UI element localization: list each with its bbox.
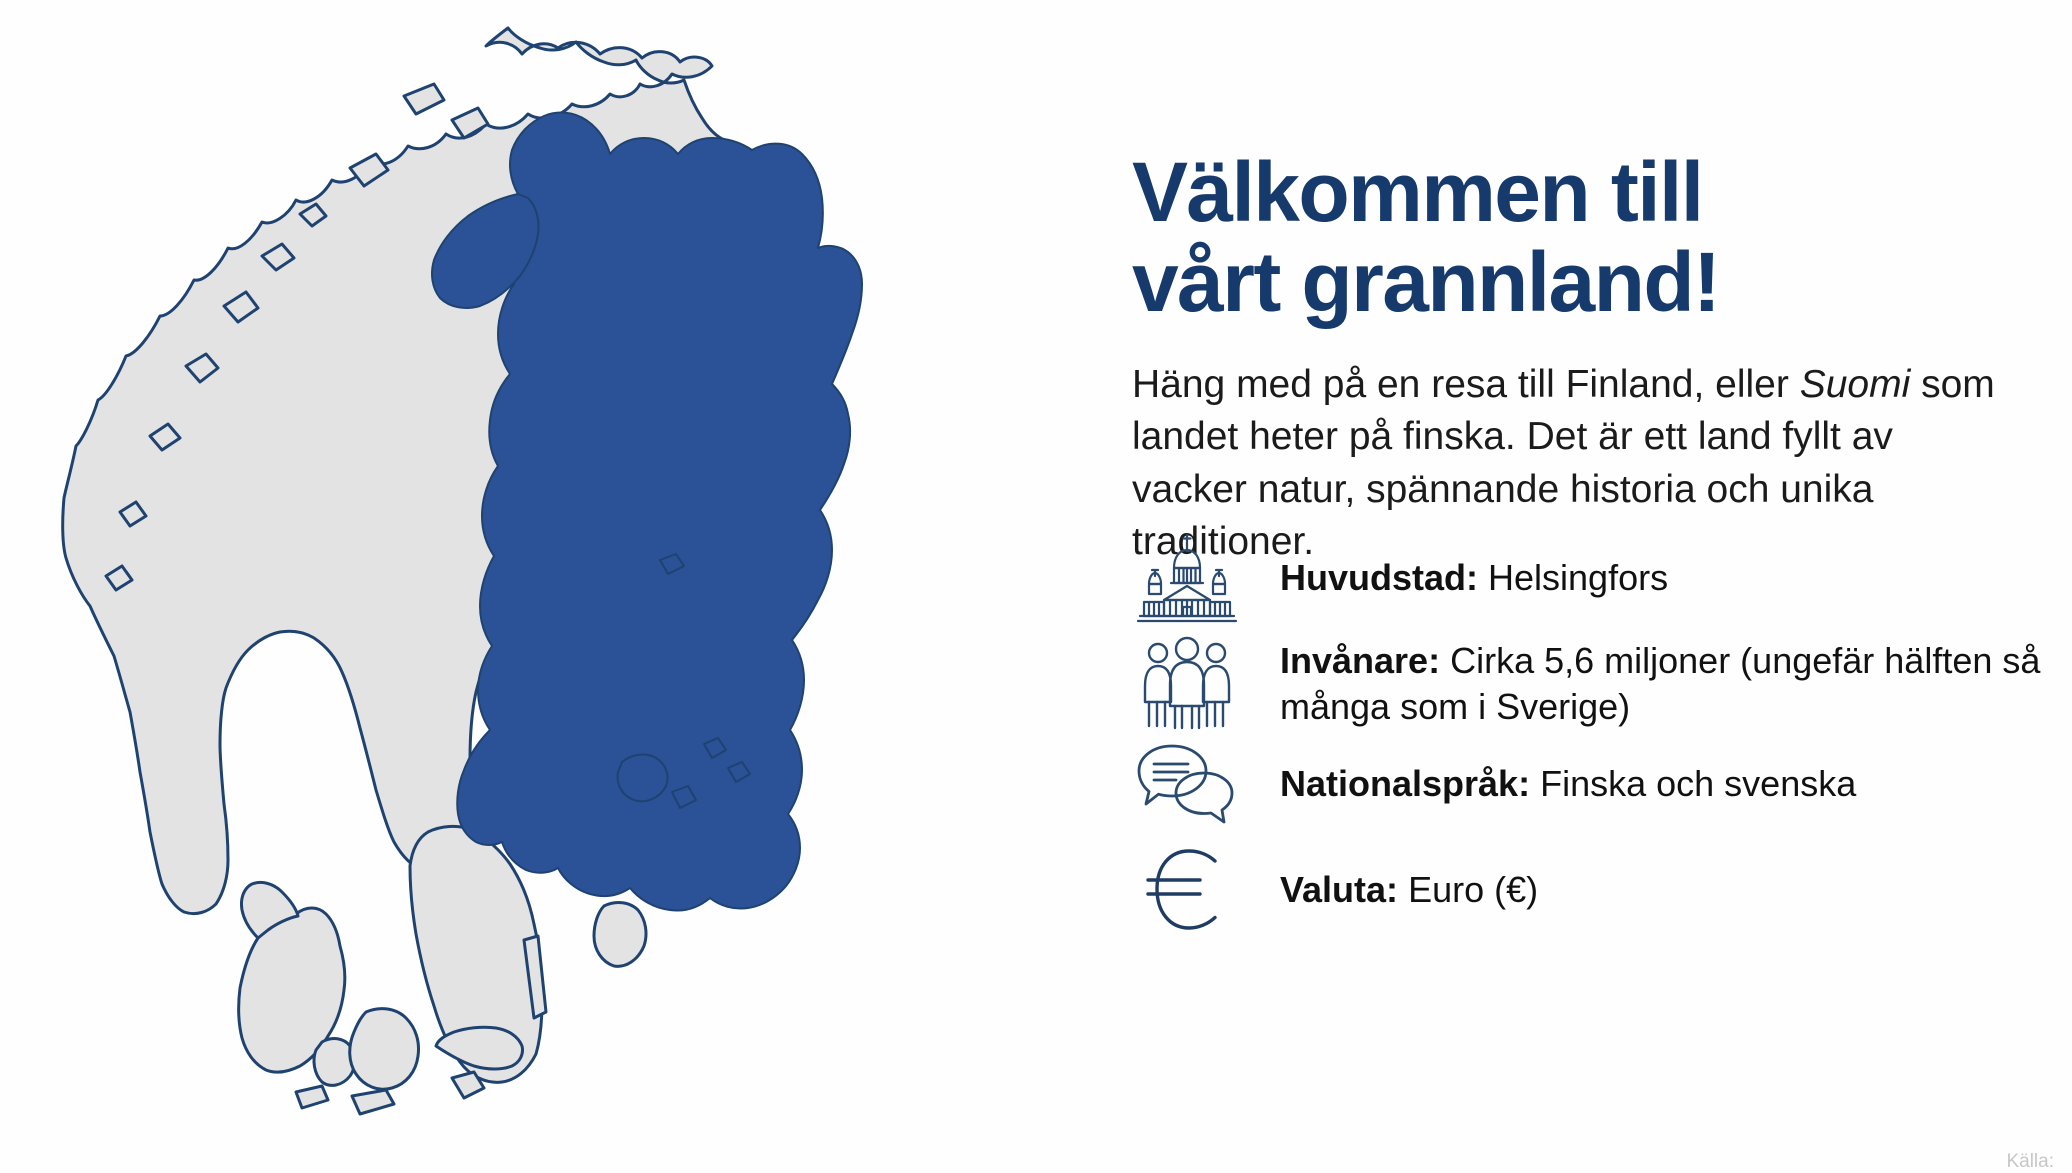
fact-row-population: Invånare: Cirka 5,6 miljoner (ungefär hä…: [1132, 636, 2072, 732]
fact-text-currency: Valuta: Euro (€): [1242, 842, 2072, 938]
fact-text-language: Nationalspråk: Finska och svenska: [1242, 736, 2072, 832]
denmark-funen: [314, 1039, 355, 1086]
fact-list: Huvudstad: Helsingfors: [1132, 530, 2072, 938]
fact-value-language: Finska och svenska: [1540, 763, 1856, 804]
cathedral-icon: [1132, 530, 1242, 626]
euro-icon: [1132, 842, 1242, 938]
fact-label-currency: Valuta:: [1280, 869, 1398, 910]
page-title: Välkommen till vårt grannland!: [1132, 148, 2032, 328]
map-svg: [0, 0, 1100, 1164]
fact-text-population: Invånare: Cirka 5,6 miljoner (ungefär hä…: [1242, 636, 2072, 732]
gotland-island: [594, 903, 646, 967]
nordic-map: [0, 0, 1100, 1164]
aland-islands: [618, 755, 668, 802]
denmark-lolland: [352, 1090, 394, 1114]
denmark-small-isle: [296, 1086, 328, 1108]
fact-label-capital: Huvudstad:: [1280, 557, 1478, 598]
info-panel: Välkommen till vårt grannland! Häng med …: [1132, 0, 2072, 1164]
denmark-zealand: [350, 1009, 419, 1090]
fact-row-capital: Huvudstad: Helsingfors: [1132, 530, 2072, 626]
intro-italic-suomi: Suomi: [1800, 363, 1911, 406]
slide-root: Välkommen till vårt grannland! Häng med …: [0, 0, 2072, 1164]
fact-row-currency: Valuta: Euro (€): [1132, 842, 2072, 938]
fact-value-currency: Euro (€): [1408, 869, 1538, 910]
people-group-icon: [1132, 636, 1242, 732]
fact-text-capital: Huvudstad: Helsingfors: [1242, 530, 2072, 626]
north-cape-island: [404, 84, 444, 114]
fact-label-language: Nationalspråk:: [1280, 763, 1530, 804]
fact-row-language: Nationalspråk: Finska och svenska: [1132, 736, 2072, 832]
bottom-caption: Källa:: [2006, 1151, 2054, 1173]
skane-sweden: [436, 1027, 523, 1069]
speech-bubbles-icon: [1132, 736, 1242, 832]
fact-label-population: Invånare:: [1280, 640, 1440, 681]
headline-line-2: vårt grannland!: [1132, 238, 2032, 328]
intro-part-1: Häng med på en resa till Finland, eller: [1132, 363, 1800, 406]
fact-value-capital: Helsingfors: [1488, 557, 1668, 598]
headline-line-1: Välkommen till: [1132, 148, 2032, 238]
